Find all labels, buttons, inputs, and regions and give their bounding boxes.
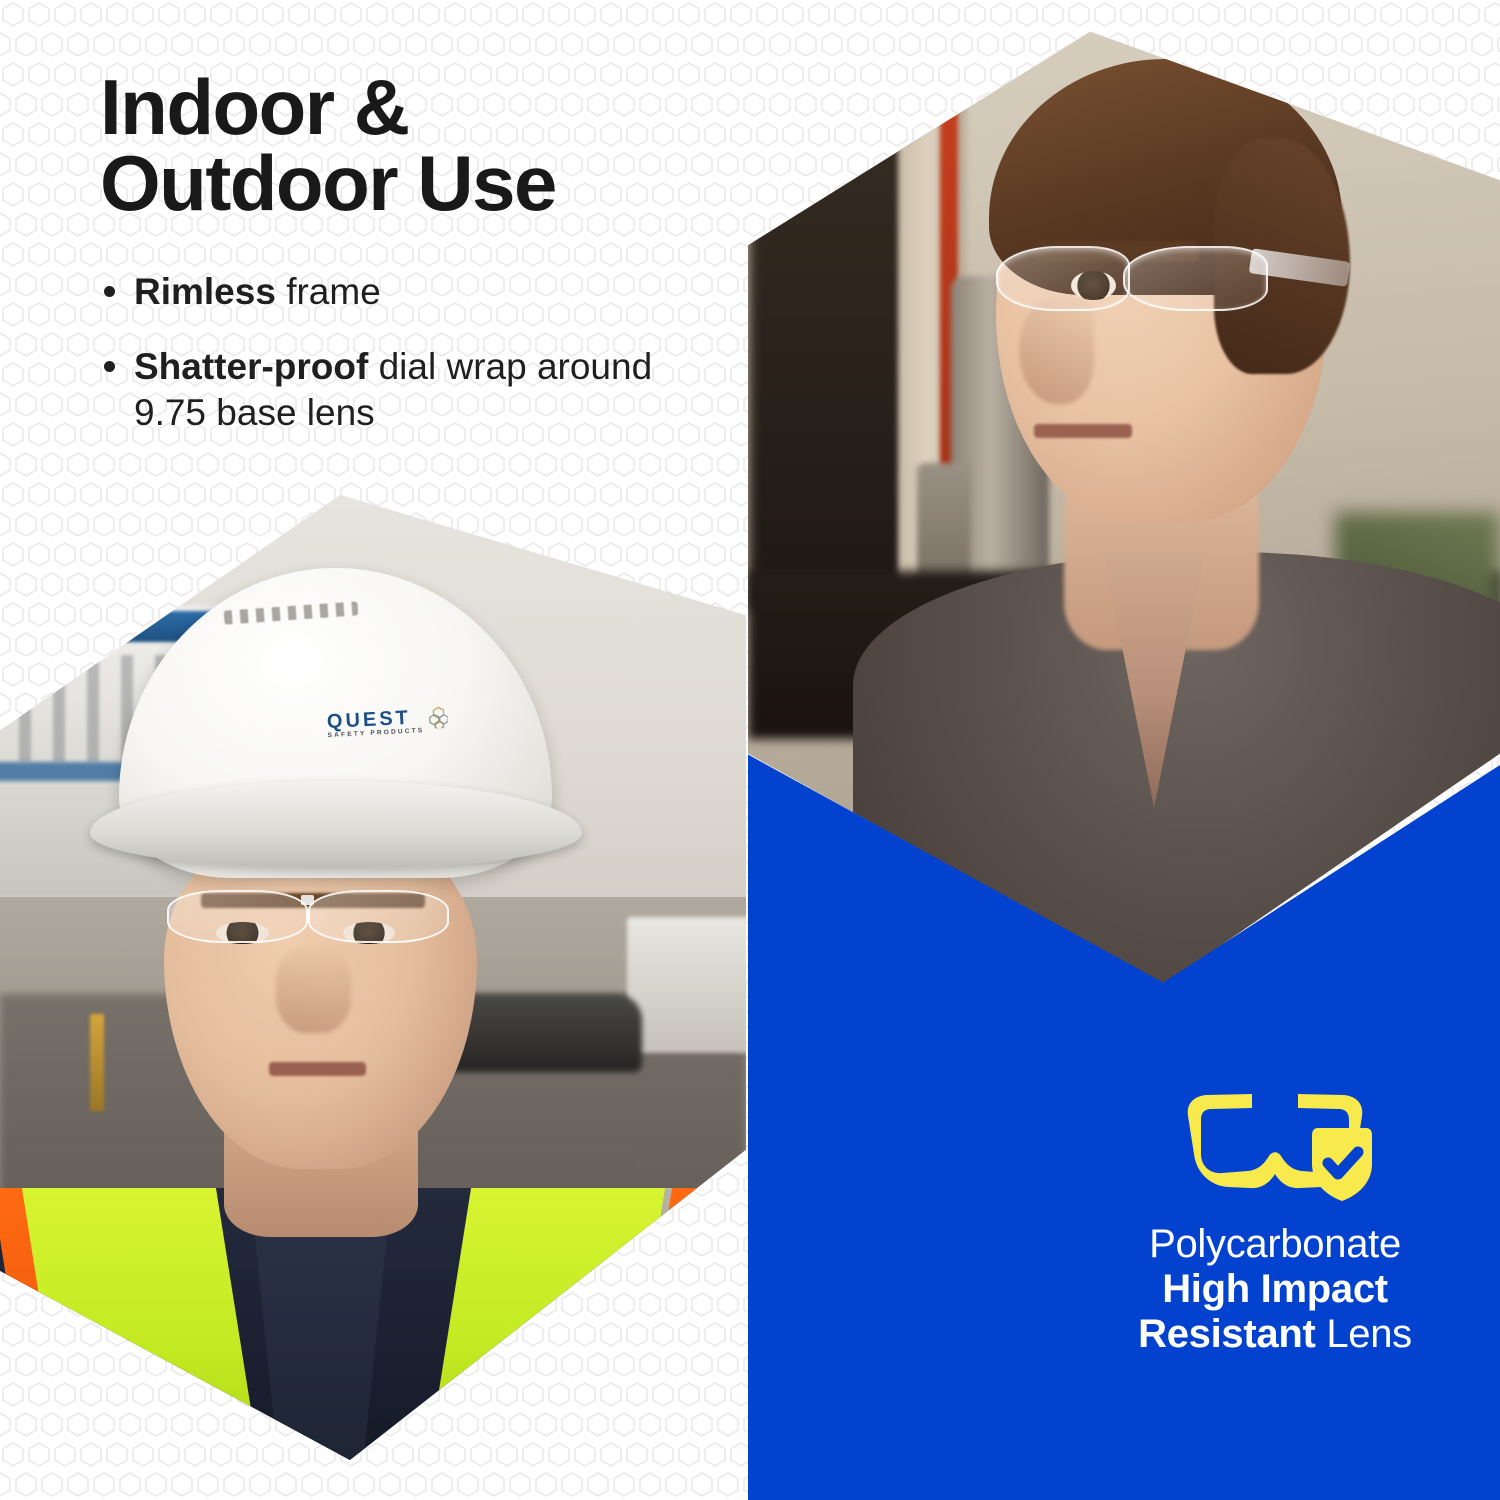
portrait-safety-glasses	[989, 241, 1342, 325]
worker-truck	[627, 917, 746, 1053]
lens-left	[167, 890, 309, 943]
badge-line-3: Resistant Lens	[1110, 1312, 1440, 1357]
list-item: Shatter-proof dial wrap around 9.75 base…	[100, 344, 720, 434]
bullet-text: frame	[276, 271, 381, 312]
goggles-icon-wrapper	[1110, 1068, 1440, 1208]
headline-line-2: Outdoor Use	[100, 139, 556, 227]
quest-logo: QUEST SAFETY PRODUCTS	[297, 684, 479, 761]
badge-text: Polycarbonate High Impact Resistant Lens	[1110, 1222, 1440, 1356]
copy-block: Indoor & Outdoor Use Rimless frame Shatt…	[100, 70, 720, 465]
safety-goggles-shield-check-icon	[1160, 1068, 1390, 1208]
product-feature-graphic: Indoor & Outdoor Use Rimless frame Shatt…	[0, 0, 1500, 1500]
feature-bullet-list: Rimless frame Shatter-proof dial wrap ar…	[100, 269, 720, 434]
badge-line-1: Polycarbonate	[1110, 1222, 1440, 1267]
status-badge: Polycarbonate High Impact Resistant Lens	[1110, 1068, 1440, 1356]
worker-safety-glasses	[157, 888, 493, 951]
badge-line-3-rest: Lens	[1316, 1312, 1412, 1356]
page-title: Indoor & Outdoor Use	[100, 70, 720, 221]
badge-line-2: High Impact	[1110, 1267, 1440, 1312]
worker-nose	[276, 946, 351, 1033]
hexagon-cluster-icon	[428, 706, 449, 734]
worker-bollard	[90, 1014, 105, 1111]
portrait-mouth	[1034, 424, 1132, 439]
lens-left	[996, 246, 1131, 310]
badge-line-3-bold: Resistant	[1138, 1312, 1315, 1356]
quest-logo-text: QUEST SAFETY PRODUCTS	[327, 707, 425, 740]
bullet-emphasis: Rimless	[134, 271, 276, 312]
bullet-emphasis: Shatter-proof	[134, 346, 368, 387]
lens-right	[308, 890, 450, 943]
list-item: Rimless frame	[100, 269, 720, 314]
worker-mouth	[269, 1062, 366, 1076]
lens-right	[1123, 246, 1268, 310]
